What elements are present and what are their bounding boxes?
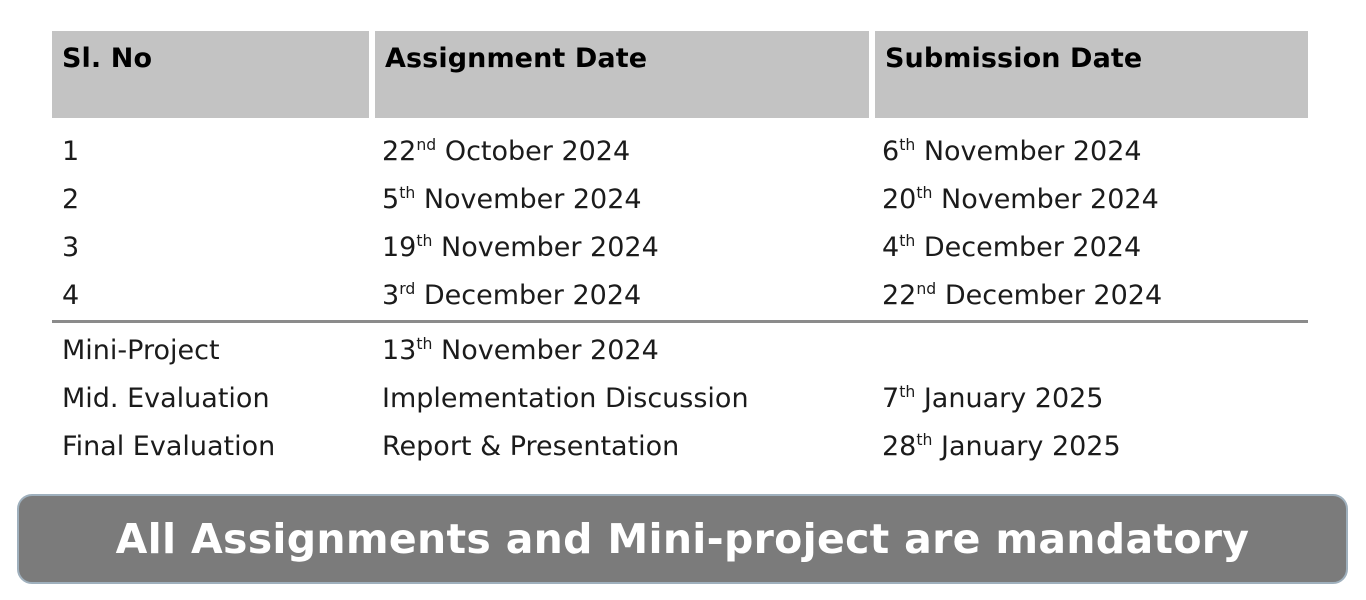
- cell-submission-date: [872, 322, 1308, 376]
- submission-rest: November 2024: [932, 184, 1158, 215]
- submission-rest: January 2025: [915, 383, 1103, 414]
- assignment-rest: October 2024: [436, 136, 630, 167]
- submission-rest: December 2024: [936, 280, 1162, 311]
- submission-day: 28: [882, 431, 916, 462]
- cell-sl-no: 2: [52, 176, 372, 224]
- cell-sl-no: 3: [52, 224, 372, 272]
- cell-submission-date: 7th January 2025: [872, 375, 1308, 423]
- column-header-assignment-date: Assignment Date: [372, 31, 872, 118]
- submission-ordinal: th: [899, 135, 915, 154]
- submission-ordinal: nd: [916, 279, 936, 298]
- submission-day: 4: [882, 232, 899, 263]
- cell-assignment-date: 13th November 2024: [372, 322, 872, 376]
- cell-submission-date: 4th December 2024: [872, 224, 1308, 272]
- mandatory-notice-banner: All Assignments and Mini-project are man…: [17, 494, 1348, 584]
- table-body: 1 22nd October 2024 6th November 2024 2 …: [52, 118, 1308, 471]
- assignment-day: 3: [382, 280, 399, 311]
- table-row: 4 3rd December 2024 22nd December 2024: [52, 272, 1308, 322]
- assignment-day: 5: [382, 184, 399, 215]
- cell-submission-date: 6th November 2024: [872, 118, 1308, 176]
- assignment-ordinal: th: [416, 334, 432, 353]
- cell-assignment-date: 22nd October 2024: [372, 118, 872, 176]
- assignment-rest: November 2024: [432, 232, 658, 263]
- cell-assignment-date: 3rd December 2024: [372, 272, 872, 322]
- submission-rest: November 2024: [915, 136, 1141, 167]
- cell-assignment-date: 19th November 2024: [372, 224, 872, 272]
- assignment-day: 13: [382, 335, 416, 366]
- column-header-sl-no: Sl. No: [52, 31, 372, 118]
- assignment-day: 19: [382, 232, 416, 263]
- assignment-schedule-table: Sl. No Assignment Date Submission Date 1…: [52, 31, 1308, 471]
- table-row: Mid. Evaluation Implementation Discussio…: [52, 375, 1308, 423]
- submission-rest: December 2024: [915, 232, 1141, 263]
- cell-milestone-label: Final Evaluation: [52, 423, 372, 471]
- cell-submission-date: 28th January 2025: [872, 423, 1308, 471]
- table-header: Sl. No Assignment Date Submission Date: [52, 31, 1308, 118]
- cell-assignment-activity: Report & Presentation: [372, 423, 872, 471]
- table-row: 1 22nd October 2024 6th November 2024: [52, 118, 1308, 176]
- assignment-day: 22: [382, 136, 416, 167]
- cell-sl-no: 4: [52, 272, 372, 322]
- assignment-ordinal: th: [416, 231, 432, 250]
- assignment-ordinal: nd: [416, 135, 436, 154]
- schedule-page: Sl. No Assignment Date Submission Date 1…: [0, 0, 1366, 600]
- table-header-row: Sl. No Assignment Date Submission Date: [52, 31, 1308, 118]
- cell-assignment-activity: Implementation Discussion: [372, 375, 872, 423]
- submission-ordinal: th: [916, 183, 932, 202]
- submission-ordinal: th: [916, 430, 932, 449]
- cell-submission-date: 20th November 2024: [872, 176, 1308, 224]
- cell-sl-no: 1: [52, 118, 372, 176]
- table-row: 3 19th November 2024 4th December 2024: [52, 224, 1308, 272]
- submission-rest: January 2025: [932, 431, 1120, 462]
- assignment-ordinal: th: [399, 183, 415, 202]
- cell-milestone-label: Mini-Project: [52, 322, 372, 376]
- submission-day: 22: [882, 280, 916, 311]
- assignment-rest: November 2024: [432, 335, 658, 366]
- cell-milestone-label: Mid. Evaluation: [52, 375, 372, 423]
- cell-assignment-date: 5th November 2024: [372, 176, 872, 224]
- table-row: Final Evaluation Report & Presentation 2…: [52, 423, 1308, 471]
- submission-ordinal: th: [899, 382, 915, 401]
- cell-submission-date: 22nd December 2024: [872, 272, 1308, 322]
- submission-ordinal: th: [899, 231, 915, 250]
- assignment-ordinal: rd: [399, 279, 415, 298]
- submission-day: 20: [882, 184, 916, 215]
- assignment-rest: November 2024: [415, 184, 641, 215]
- table-row: 2 5th November 2024 20th November 2024: [52, 176, 1308, 224]
- submission-day: 6: [882, 136, 899, 167]
- table-row: Mini-Project 13th November 2024: [52, 322, 1308, 376]
- column-header-submission-date: Submission Date: [872, 31, 1308, 118]
- assignment-rest: December 2024: [415, 280, 641, 311]
- submission-day: 7: [882, 383, 899, 414]
- mandatory-notice-text: All Assignments and Mini-project are man…: [116, 515, 1250, 563]
